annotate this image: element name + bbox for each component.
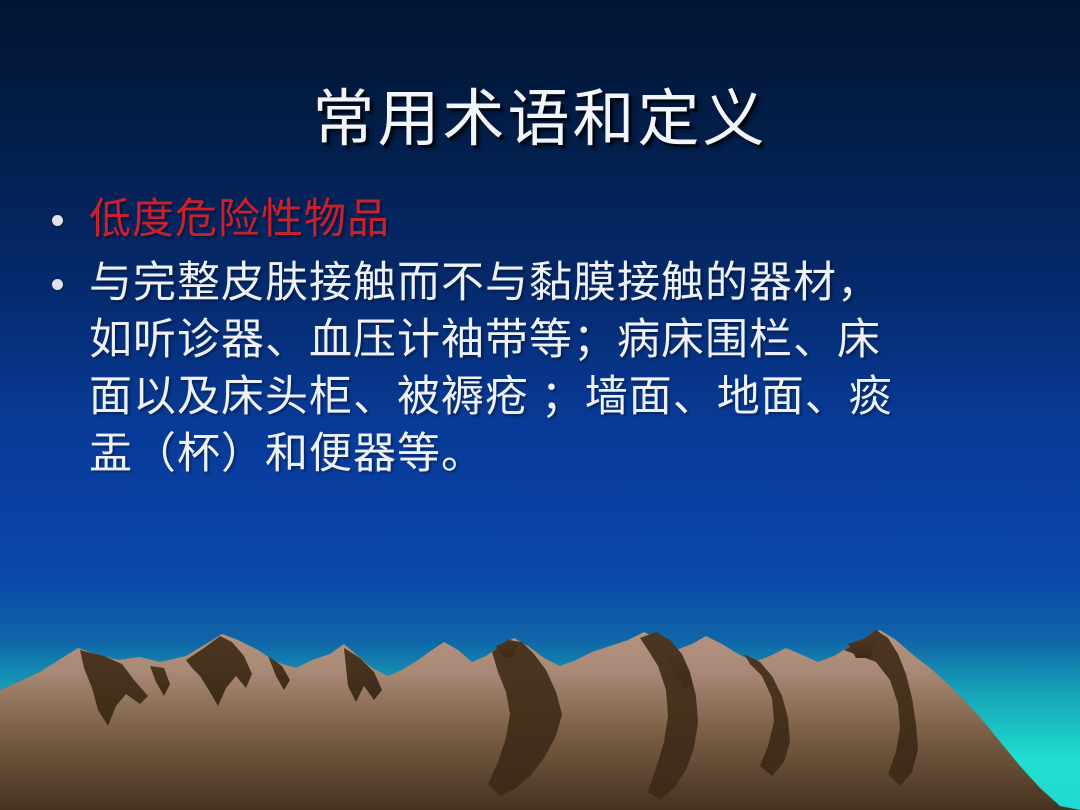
text-line: 低度危险性物品 <box>89 193 1032 249</box>
bullet-item-term-name: 低度危险性物品 <box>52 193 1032 249</box>
title-block: 常用术语和定义 <box>0 44 1080 195</box>
mountain-ridge-main <box>0 630 1080 810</box>
bullet-text-term-name: 低度危险性物品 <box>89 193 1032 249</box>
text-line: 与完整皮肤接触而不与黏膜接触的器材， <box>89 255 1032 312</box>
page-title: 常用术语和定义 <box>312 86 767 154</box>
bullet-item-term-definition: 与完整皮肤接触而不与黏膜接触的器材， 如听诊器、血压计袖带等；病床围栏、床 面以… <box>52 255 1032 484</box>
text-line: 盂（杯）和便器等。 <box>89 426 1032 483</box>
bullet-dot-icon <box>52 279 63 290</box>
text-line: 面以及床头柜、被褥疮 ；墙面、地面、痰 <box>89 369 1032 426</box>
bullet-dot-icon <box>52 215 63 226</box>
bullet-text-term-definition: 与完整皮肤接触而不与黏膜接触的器材， 如听诊器、血压计袖带等；病床围栏、床 面以… <box>89 255 1032 484</box>
mountain-shadow-facets <box>80 630 918 800</box>
slide-canvas: 常用术语和定义 低度危险性物品 与完整皮肤接触而不与黏膜接触的器材， 如听诊器、… <box>0 0 1080 810</box>
content-body: 低度危险性物品 与完整皮肤接触而不与黏膜接触的器材， 如听诊器、血压计袖带等；病… <box>52 193 1032 490</box>
text-line: 如听诊器、血压计袖带等；病床围栏、床 <box>89 312 1032 369</box>
mountain-range-silhouette <box>0 610 1080 810</box>
